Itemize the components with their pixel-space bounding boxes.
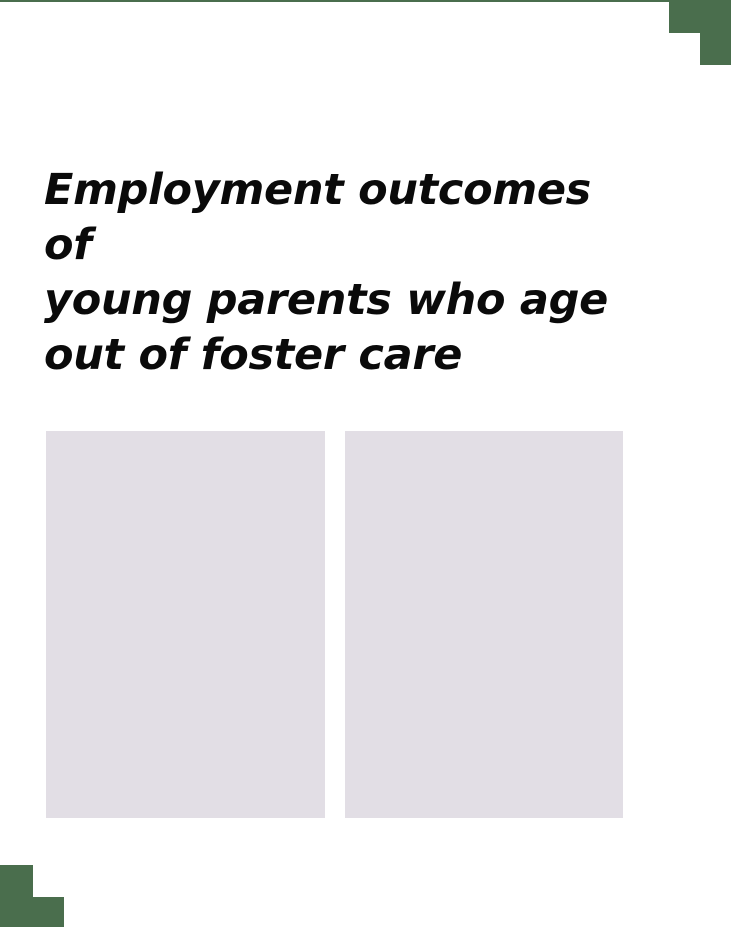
top-rule: [0, 0, 731, 2]
content-panel-group: [46, 431, 623, 818]
step-block-top-right-icon: [669, 0, 731, 65]
page-title: Employment outcomes of young parents who…: [44, 163, 644, 383]
content-placeholder-right: [345, 431, 623, 818]
step-segment-lower: [0, 897, 64, 927]
step-block-bottom-left-icon: [0, 865, 64, 927]
cover-page: Employment outcomes of young parents who…: [0, 0, 731, 927]
content-placeholder-left: [46, 431, 325, 818]
step-segment-lower: [700, 33, 731, 65]
step-segment-upper: [669, 0, 731, 33]
step-segment-upper: [0, 865, 33, 897]
